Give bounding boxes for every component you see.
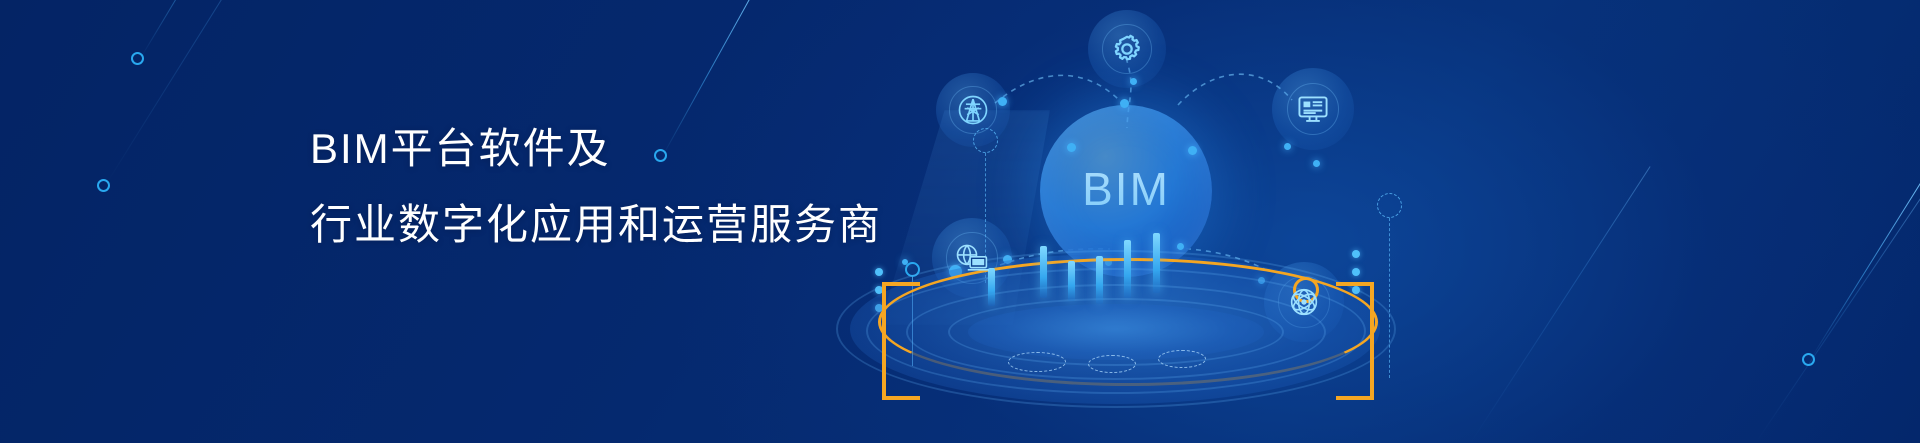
streak-end-circle (97, 179, 110, 192)
page-title: BIM平台软件及 行业数字化应用和运营服务商 (310, 118, 882, 256)
monitor-connector-node (1313, 160, 1320, 167)
streak-end-circle (131, 52, 144, 65)
connector-node (1120, 99, 1129, 108)
dashed-circle-marker (1377, 193, 1402, 218)
bim-illustration: BIM (840, 0, 1460, 443)
diagonal-streak (105, 0, 281, 186)
gear-connector-node (1130, 78, 1137, 85)
diagonal-streak (140, 0, 262, 59)
orbit-dash-segment (1158, 350, 1206, 368)
diagonal-streak (1810, 172, 1920, 359)
connector-node (1188, 146, 1197, 155)
data-bar (1068, 261, 1075, 301)
network-node-icon (1286, 284, 1322, 320)
orbit-dash-segment (1088, 355, 1136, 373)
bim-hero-banner: BIM平台软件及 行业数字化应用和运营服务商 BIM (0, 0, 1920, 443)
power-tower-icon (955, 92, 991, 128)
gear-bubble[interactable] (1088, 10, 1166, 88)
globe-laptop-icon (952, 240, 992, 276)
power-tower-connector-node (998, 97, 1007, 106)
data-bar (1096, 256, 1103, 304)
data-bar (1153, 233, 1160, 293)
orbit-dash-segment (1008, 352, 1066, 372)
dashed-circle-marker (973, 128, 998, 153)
monitor-connector-node (1284, 143, 1291, 150)
monitor-display-icon (1294, 90, 1332, 128)
streak-end-circle (1802, 353, 1815, 366)
data-bar (1124, 240, 1131, 298)
diagonal-streak (1755, 194, 1920, 443)
connector-node (1067, 143, 1076, 152)
monitor-bubble[interactable] (1272, 68, 1354, 150)
bracket-left (882, 282, 920, 400)
headline-line-2: 行业数字化应用和运营服务商 (310, 194, 882, 256)
gear-icon (1110, 32, 1144, 66)
data-bar (1040, 246, 1047, 298)
diagonal-streak (1470, 166, 1651, 443)
headline-line-1: BIM平台软件及 (310, 118, 882, 180)
bracket-right (1336, 282, 1374, 400)
